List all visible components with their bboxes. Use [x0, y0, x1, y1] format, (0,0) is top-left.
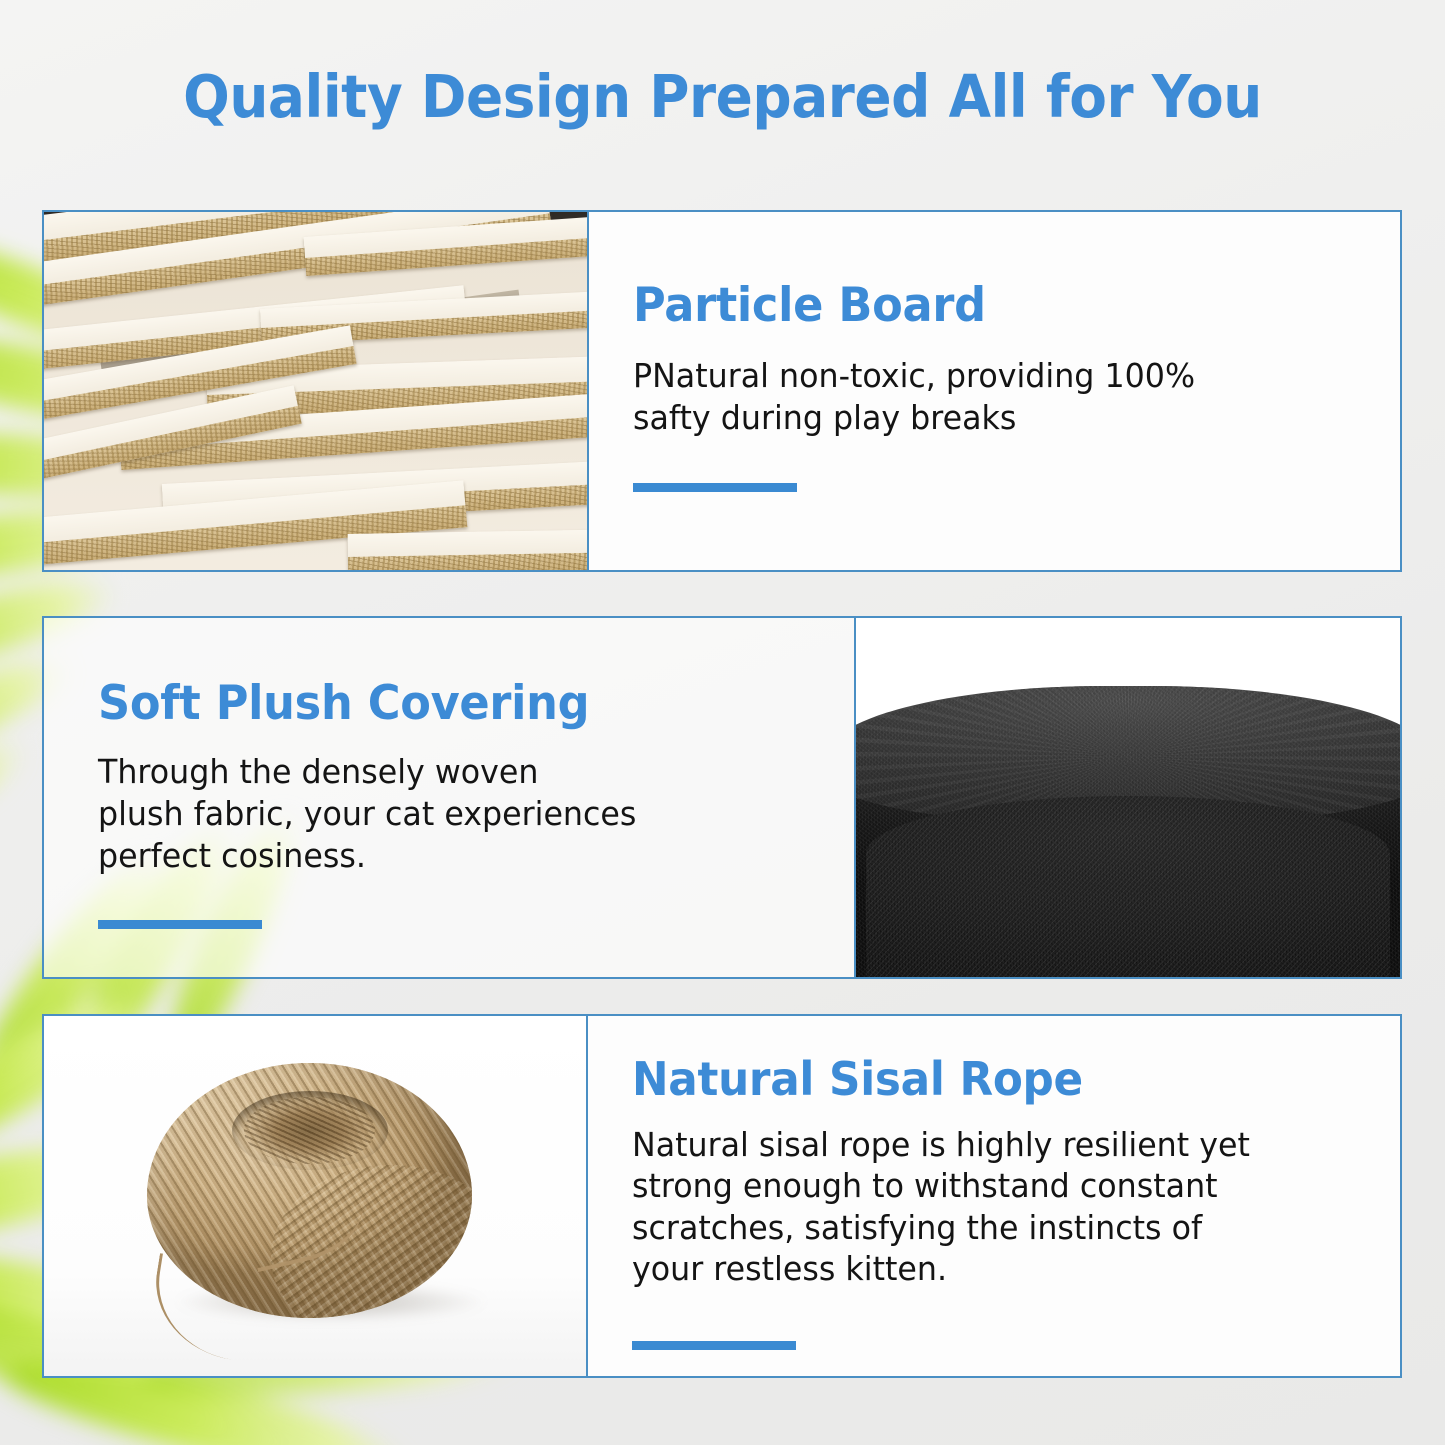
particle-board-text-pane: Particle Board PNatural non-toxic, provi…	[589, 212, 1400, 570]
card-body-soft-plush: Through the densely woven plush fabric, …	[98, 751, 799, 878]
card-title-particle-board: Particle Board	[633, 278, 1337, 333]
accent-bar-soft-plush	[98, 920, 262, 929]
soft-plush-text-pane: Soft Plush Covering Through the densely …	[44, 618, 854, 977]
card-title-sisal-rope: Natural Sisal Rope	[632, 1052, 1337, 1106]
feature-card-particle-board: Particle Board PNatural non-toxic, provi…	[42, 210, 1402, 572]
soft-plush-photo	[854, 618, 1400, 977]
infographic-stage: Quality Design Prepared All for You	[0, 0, 1445, 1445]
sisal-rope-photo	[44, 1016, 588, 1376]
card-body-sisal-rope: Natural sisal rope is highly resilient y…	[632, 1124, 1344, 1289]
particle-board-photo	[44, 212, 589, 570]
sisal-rope-text-pane: Natural Sisal Rope Natural sisal rope is…	[588, 1016, 1400, 1376]
card-title-soft-plush: Soft Plush Covering	[98, 676, 792, 731]
accent-bar-particle-board	[633, 483, 797, 492]
feature-card-soft-plush: Soft Plush Covering Through the densely …	[42, 616, 1402, 979]
accent-bar-sisal-rope	[632, 1341, 796, 1350]
card-body-particle-board: PNatural non-toxic, providing 100% safty…	[633, 355, 1344, 439]
feature-card-sisal-rope: Natural Sisal Rope Natural sisal rope is…	[42, 1014, 1402, 1378]
page-title: Quality Design Prepared All for You	[51, 62, 1395, 131]
